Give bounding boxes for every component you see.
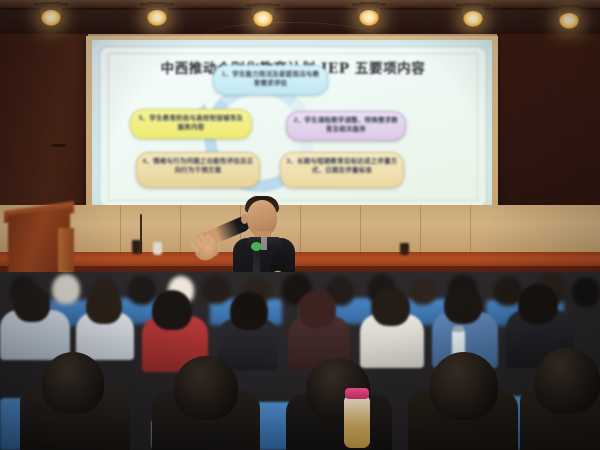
audience-head	[152, 290, 192, 330]
slide-node-4: 4、情绪与行为问题之功能性评估及正向行为干预方案	[136, 152, 260, 188]
audience-head	[14, 286, 50, 322]
slide-node-2: 2、学生课程教学调整、特殊需求教育及相关服务	[286, 111, 406, 141]
audience-head	[86, 288, 122, 324]
audience-head	[444, 286, 482, 324]
ceiling-spotlight-1	[34, 2, 68, 36]
audience-head	[42, 352, 104, 414]
audience-head	[572, 277, 600, 307]
ceiling-spotlight-2	[140, 2, 174, 36]
water-bottle-cap	[345, 388, 369, 399]
audience-head	[430, 352, 498, 420]
audience-head	[534, 348, 600, 414]
audience-head	[410, 277, 436, 305]
presenter-open-hand	[190, 233, 223, 265]
light-track	[0, 8, 600, 10]
ceiling-spotlight-3	[246, 3, 280, 37]
presenter-ear	[241, 214, 248, 224]
ceiling-spotlight-6	[552, 5, 586, 39]
audience-head	[298, 290, 336, 328]
microphone-head-icon	[251, 242, 262, 251]
presentation-slide: 中西推动个别化教育计划 IEP 五要项内容 1、学生能力现况及家庭现况与教育需求…	[99, 46, 487, 208]
audience-head	[230, 292, 268, 330]
ceiling-spotlight-5	[456, 3, 490, 37]
slide-node-1: 1、学生能力现况及家庭现况与教育需求评估	[213, 65, 328, 95]
audience-head	[202, 274, 230, 304]
slide-node-5: 5、学生教育阶段与高校衔接辅导及服务内容	[130, 109, 252, 139]
audience-head	[174, 356, 238, 420]
audience-head	[518, 284, 558, 324]
dark-mug	[132, 240, 141, 254]
slide-node-3: 3、长期与短期教育目标达成之评量方式、日期及评量标准	[280, 152, 404, 188]
audience-head	[372, 288, 410, 326]
presentation-photo-scene: 中西推动个别化教育计划 IEP 五要项内容 1、学生能力现况及家庭现况与教育需求…	[0, 0, 600, 450]
bottle-cap	[453, 326, 464, 332]
ceiling-spotlight-4	[352, 2, 386, 36]
audience-head	[52, 274, 80, 304]
right-cup	[400, 243, 409, 255]
white-mug	[153, 242, 162, 255]
water-bottle	[344, 396, 370, 448]
podium-stem	[58, 228, 74, 276]
ceiling-edge-trim	[0, 0, 600, 7]
audience-head	[128, 275, 156, 305]
